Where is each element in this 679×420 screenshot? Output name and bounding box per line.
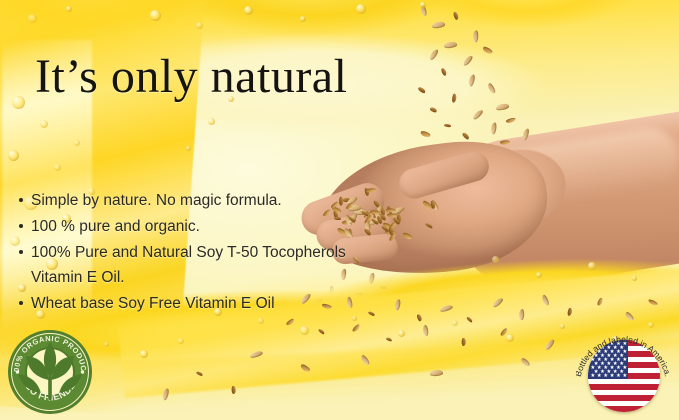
wheat-seed [544,338,555,351]
wheat-seed [444,41,458,48]
wheat-seed [444,123,452,128]
list-item: 100% Pure and Natural Soy T-50 Tocophero… [18,240,358,290]
oil-bubble [178,338,184,344]
product-banner: It’s only natural Simple by nature. No m… [0,0,679,420]
svg-text:Bottled and labeled in America: Bottled and labeled in America. [576,334,670,377]
wheat-seed [368,273,375,285]
organic-badge: 100% ORGANIC PRODUCT ECO FRIENDLY [8,330,92,414]
wheat-seed [430,107,438,113]
wheat-seed [418,86,426,93]
oil-bubble [196,22,203,29]
oil-bubble [8,150,19,161]
america-badge-text: Bottled and labeled in America. [576,326,670,420]
wheat-seed [519,309,524,320]
wheat-seed [232,386,236,394]
wheat-seed [372,303,382,310]
wheat-seed [439,304,453,313]
feature-list: Simple by nature. No magic formula. 100 … [18,188,358,317]
oil-bubble [74,140,80,146]
wheat-seed [420,4,428,16]
wheat-seed [430,369,443,376]
oil-bubble [258,318,264,324]
list-item: Simple by nature. No magic formula. [18,188,358,213]
wheat-seed [380,285,388,290]
wheat-seed [360,355,370,366]
wheat-seed [318,328,325,335]
wheat-seed [368,311,375,317]
oil-bubble [356,4,366,14]
oil-bubble [186,146,191,151]
oil-bubble [54,164,61,171]
wheat-seed [300,364,311,373]
wheat-seed [466,316,473,323]
oil-bubble [40,120,48,128]
oil-bubble [560,324,565,329]
wheat-seed [468,74,476,87]
wheat-seed [286,318,295,327]
wheat-seed [394,298,401,310]
wheat-seed [441,67,448,76]
oil-bubble [632,276,637,281]
wheat-seed [500,327,509,336]
wheat-seed [462,54,474,67]
wheat-seed [453,11,459,20]
oil-bubble [208,118,215,125]
wheat-seed [428,48,439,61]
page-title: It’s only natural [35,52,347,102]
wheat-seed [422,325,428,337]
wheat-seed [492,297,505,309]
wheat-seed [249,350,263,359]
wheat-seed [432,21,446,29]
wheat-seed [624,311,635,322]
list-item: 100 % pure and organic. [18,214,358,239]
wheat-seed [386,337,393,342]
wheat-seed [472,108,485,120]
wheat-seed [452,93,457,102]
oil-bubble [12,96,25,109]
wheat-seed [597,297,604,306]
oil-bubble [104,342,109,347]
wheat-seed [567,308,572,316]
list-item: Wheat base Soy Free Vitamin E Oil [18,291,358,316]
oil-bubble [398,330,405,337]
oil-bubble [420,2,426,8]
wheat-seed [496,103,510,111]
wheat-seed [482,46,493,55]
america-badge: ★★★★★★★★★★★★★★★★★★★★★★★★★★★★★★★★★★★★★★★★… [576,326,670,420]
oil-bubble [140,350,148,358]
wheat-seed [420,130,431,138]
wheat-seed [473,31,478,43]
oil-bubble [300,16,306,22]
wheat-seed [162,388,170,400]
oil-bubble [300,326,309,335]
wheat-seed [462,132,470,140]
oil-bubble [452,320,458,326]
wheat-seed [491,122,497,134]
oil-bubble [244,6,253,15]
oil-bubble [66,6,72,12]
oil-bubble [506,334,514,342]
oil-bubble [28,14,37,23]
wheat-seed [196,371,203,377]
wheat-seed [541,294,550,306]
wheat-seed [487,82,497,94]
wheat-seed [417,314,423,322]
wheat-seed [648,298,659,306]
leaf-icon [8,330,92,414]
wheat-seed [506,117,517,124]
wheat-seed [462,338,466,346]
oil-bubble [150,10,161,21]
wheat-seed [520,357,531,367]
wheat-seed [352,324,361,333]
